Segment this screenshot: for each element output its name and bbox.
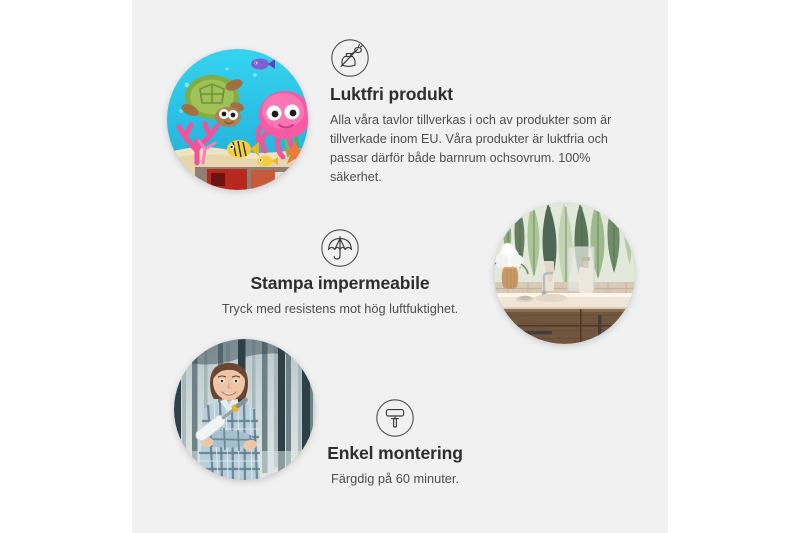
umbrella-icon <box>320 228 360 268</box>
feature-odourless: Luktfri produkt Alla våra tavlor tillver… <box>330 38 630 188</box>
feature-body: Tryck med resistens mot hög luftfuktighe… <box>190 299 490 318</box>
no-fragrance-icon <box>330 38 370 78</box>
photo-bathroom <box>494 203 635 344</box>
paint-roller-icon <box>375 398 415 438</box>
feature-easy-install: Enkel montering Färgdig på 60 minuter. <box>245 398 545 488</box>
feature-waterproof: Stampa impermeabile Tryck med resistens … <box>190 228 490 318</box>
feature-body: Alla våra tavlor tillverkas i och av pro… <box>330 111 630 188</box>
feature-body: Färgdig på 60 minuter. <box>245 469 545 488</box>
feature-title: Enkel montering <box>245 443 545 464</box>
feature-title: Luktfri produkt <box>330 84 630 105</box>
photo-underwater <box>167 49 308 190</box>
feature-title: Stampa impermeabile <box>190 273 490 294</box>
page-canvas: Luktfri produkt Alla våra tavlor tillver… <box>0 0 800 533</box>
